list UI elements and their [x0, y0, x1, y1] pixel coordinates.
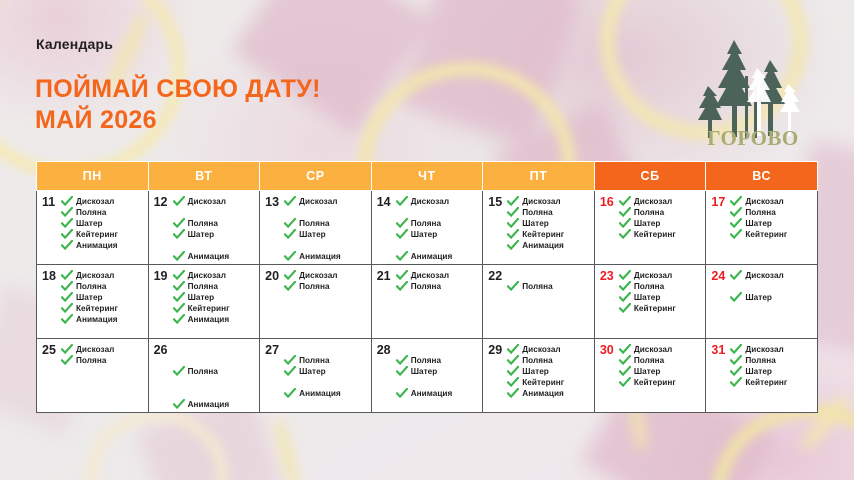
check-icon	[507, 196, 519, 207]
check-icon	[61, 207, 73, 218]
check-icon	[507, 388, 519, 399]
check-icon	[61, 229, 73, 240]
day-cell-inner: 12Дискозал ПолянаШатер Анимация	[149, 191, 260, 264]
gorovo-logo: ГОРОВО	[688, 32, 818, 152]
day-number: 18	[42, 270, 59, 282]
check-icon	[619, 292, 631, 303]
service-item: Дискозал	[173, 196, 256, 207]
calendar-table: ПНВТСРЧТПТСБВС 11ДискозалПолянаШатерКейт…	[36, 161, 818, 413]
check-icon	[284, 355, 296, 366]
check-icon	[396, 218, 408, 229]
service-item: Шатер	[507, 366, 590, 377]
check-icon	[61, 344, 73, 355]
service-label: Дискозал	[73, 270, 114, 281]
check-icon	[619, 366, 631, 377]
calendar-day-cell[interactable]: 13Дискозал ПолянаШатер Анимация	[260, 191, 372, 265]
day-service-list: Поляна Анимация	[171, 344, 256, 410]
check-icon	[507, 240, 519, 251]
check-icon	[173, 251, 185, 262]
check-icon	[619, 229, 631, 240]
service-label: Поляна	[296, 281, 329, 292]
day-service-list: ДискозалПолянаШатерКейтерингАнимация	[59, 196, 144, 251]
check-icon	[61, 314, 73, 325]
check-icon	[619, 207, 631, 218]
day-cell-inner: 28 ПолянаШатер Анимация	[372, 339, 483, 412]
service-label: Шатер	[185, 292, 215, 303]
day-service-list: ДискозалПолянаШатерКейтерингАнимация	[505, 344, 590, 399]
calendar-day-cell[interactable]: 12Дискозал ПолянаШатер Анимация	[148, 191, 260, 265]
check-icon	[61, 270, 73, 281]
day-number: 26	[154, 344, 171, 356]
service-label: Анимация	[519, 240, 564, 251]
service-item: Поляна	[61, 355, 144, 366]
service-label: Дискозал	[408, 270, 449, 281]
day-number: 23	[600, 270, 617, 282]
service-label: Кейтеринг	[631, 229, 676, 240]
check-icon	[173, 399, 185, 410]
service-label: Поляна	[185, 218, 218, 229]
service-label: Поляна	[185, 281, 218, 292]
service-item: Поляна	[730, 355, 813, 366]
calendar-day-cell[interactable]: 21ДискозалПоляна	[371, 265, 483, 339]
calendar-day-cell[interactable]: 19ДискозалПолянаШатерКейтерингАнимация	[148, 265, 260, 339]
service-item: Анимация	[173, 251, 256, 262]
service-label: Анимация	[185, 251, 230, 262]
check-icon	[396, 229, 408, 240]
service-item: Анимация	[396, 388, 479, 399]
weekday-header-сб: СБ	[594, 162, 706, 191]
service-label: Дискозал	[519, 196, 560, 207]
service-item: Анимация	[173, 399, 256, 410]
day-service-list: ПолянаШатер Анимация	[282, 344, 367, 399]
check-icon	[507, 218, 519, 229]
day-number: 28	[377, 344, 394, 356]
calendar-day-cell[interactable]: 26 Поляна Анимация	[148, 339, 260, 413]
service-item: Поляна	[730, 207, 813, 218]
check-icon	[507, 344, 519, 355]
check-icon	[619, 270, 631, 281]
check-icon	[730, 218, 742, 229]
service-item: Дискозал	[730, 196, 813, 207]
calendar-day-cell[interactable]: 11ДискозалПолянаШатерКейтерингАнимация	[37, 191, 149, 265]
service-item: Дискозал	[619, 344, 702, 355]
service-label: Анимация	[408, 388, 453, 399]
service-item: Дискозал	[396, 270, 479, 281]
service-item: Кейтеринг	[619, 377, 702, 388]
service-item: Шатер	[619, 366, 702, 377]
day-service-list: ДискозалПоляна	[394, 270, 479, 292]
check-icon	[284, 218, 296, 229]
day-cell-inner: 25ДискозалПоляна	[37, 339, 148, 412]
calendar-day-cell[interactable]: 31ДискозалПолянаШатерКейтеринг	[706, 339, 818, 413]
day-cell-inner: 26 Поляна Анимация	[149, 339, 260, 412]
day-cell-inner: 16ДискозалПолянаШатерКейтеринг	[595, 191, 706, 264]
check-icon	[730, 292, 742, 303]
service-item: Поляна	[284, 281, 367, 292]
service-label: Дискозал	[73, 344, 114, 355]
calendar-poster: Календарь ПОЙМАЙ СВОЮ ДАТУ! МАЙ 2026 ГОР…	[0, 0, 854, 480]
service-label: Поляна	[631, 281, 664, 292]
service-item: Анимация	[284, 251, 367, 262]
service-item: Поляна	[507, 207, 590, 218]
day-number: 27	[265, 344, 282, 356]
calendar-week-row: 25ДискозалПоляна26 Поляна Анимация27 Пол…	[37, 339, 818, 413]
service-item: Дискозал	[396, 196, 479, 207]
day-cell-inner: 19ДискозалПолянаШатерКейтерингАнимация	[149, 265, 260, 338]
service-item: Шатер	[619, 292, 702, 303]
service-item: Шатер	[396, 366, 479, 377]
day-service-list: ДискозалПолянаШатерКейтеринг	[617, 196, 702, 240]
service-label: Анимация	[185, 314, 230, 325]
service-item: Анимация	[173, 314, 256, 325]
check-icon	[284, 388, 296, 399]
service-item: Шатер	[173, 229, 256, 240]
service-label: Шатер	[742, 366, 772, 377]
day-cell-inner: 21ДискозалПоляна	[372, 265, 483, 338]
service-label: Шатер	[631, 292, 661, 303]
service-item: Поляна	[507, 355, 590, 366]
check-icon	[619, 344, 631, 355]
day-number: 22	[488, 270, 505, 282]
check-icon	[173, 218, 185, 229]
check-icon	[730, 270, 742, 281]
day-cell-inner: 14Дискозал ПолянаШатер Анимация	[372, 191, 483, 264]
day-number: 17	[711, 196, 728, 208]
check-icon	[396, 251, 408, 262]
service-label: Кейтеринг	[631, 377, 676, 388]
service-item: Дискозал	[61, 196, 144, 207]
check-icon	[619, 196, 631, 207]
check-icon	[730, 344, 742, 355]
check-icon	[730, 377, 742, 388]
calendar-day-cell[interactable]: 27 ПолянаШатер Анимация	[260, 339, 372, 413]
day-service-list: ПолянаШатер Анимация	[394, 344, 479, 399]
service-item: Поляна	[619, 207, 702, 218]
service-label: Кейтеринг	[73, 229, 118, 240]
check-icon	[173, 303, 185, 314]
service-item: Анимация	[284, 388, 367, 399]
check-icon	[396, 355, 408, 366]
calendar-day-cell[interactable]: 22 Поляна	[483, 265, 595, 339]
service-item: Дискозал	[507, 344, 590, 355]
day-cell-inner: 20ДискозалПоляна	[260, 265, 371, 338]
service-label: Кейтеринг	[73, 303, 118, 314]
service-item: Шатер	[507, 218, 590, 229]
day-cell-inner: 31ДискозалПолянаШатерКейтеринг	[706, 339, 817, 412]
service-item: Шатер	[730, 366, 813, 377]
check-icon	[284, 366, 296, 377]
service-item: Анимация	[507, 240, 590, 251]
day-cell-inner: 27 ПолянаШатер Анимация	[260, 339, 371, 412]
service-label: Анимация	[519, 388, 564, 399]
service-label: Шатер	[185, 229, 215, 240]
check-icon	[173, 196, 185, 207]
day-cell-inner: 30ДискозалПолянаШатерКейтеринг	[595, 339, 706, 412]
service-item: Кейтеринг	[61, 303, 144, 314]
check-icon	[61, 303, 73, 314]
service-label: Поляна	[296, 355, 329, 366]
service-label: Поляна	[73, 281, 106, 292]
service-label: Дискозал	[631, 196, 672, 207]
service-label: Дискозал	[742, 344, 783, 355]
service-item: Дискозал	[284, 196, 367, 207]
service-item: Дискозал	[284, 270, 367, 281]
service-item: Кейтеринг	[730, 229, 813, 240]
service-item: Шатер	[396, 229, 479, 240]
calendar-day-cell[interactable]: 23ДискозалПолянаШатерКейтеринг	[594, 265, 706, 339]
service-label: Шатер	[742, 292, 772, 303]
day-service-list: ДискозалПолянаШатерКейтеринг	[617, 270, 702, 314]
check-icon	[61, 218, 73, 229]
service-label: Шатер	[631, 218, 661, 229]
service-label: Дискозал	[185, 196, 226, 207]
service-item: Шатер	[173, 292, 256, 303]
calendar-day-cell[interactable]: 28 ПолянаШатер Анимация	[371, 339, 483, 413]
service-label: Кейтеринг	[631, 303, 676, 314]
service-label: Кейтеринг	[519, 377, 564, 388]
service-item: Шатер	[730, 292, 813, 303]
service-label: Анимация	[185, 399, 230, 410]
service-label: Поляна	[742, 355, 775, 366]
service-label: Анимация	[408, 251, 453, 262]
service-item: Поляна	[619, 355, 702, 366]
service-label: Шатер	[296, 366, 326, 377]
service-label: Шатер	[73, 292, 103, 303]
service-item: Дискозал	[730, 344, 813, 355]
service-label: Поляна	[73, 355, 106, 366]
service-item: Шатер	[284, 366, 367, 377]
day-cell-inner: 17ДискозалПолянаШатерКейтеринг	[706, 191, 817, 264]
check-icon	[173, 292, 185, 303]
calendar-day-cell[interactable]: 29ДискозалПолянаШатерКейтерингАнимация	[483, 339, 595, 413]
service-item: Поляна	[173, 218, 256, 229]
service-item: Кейтеринг	[619, 229, 702, 240]
service-label: Анимация	[73, 314, 118, 325]
day-service-list: Поляна	[505, 270, 590, 292]
day-number: 13	[265, 196, 282, 208]
service-label: Поляна	[519, 207, 552, 218]
service-label: Поляна	[631, 355, 664, 366]
check-icon	[61, 355, 73, 366]
calendar-day-cell[interactable]: 15ДискозалПолянаШатерКейтерингАнимация	[483, 191, 595, 265]
service-item: Шатер	[284, 229, 367, 240]
service-label: Поляна	[73, 207, 106, 218]
calendar-body: 11ДискозалПолянаШатерКейтерингАнимация12…	[37, 191, 818, 413]
service-label: Дискозал	[408, 196, 449, 207]
day-number: 16	[600, 196, 617, 208]
check-icon	[396, 366, 408, 377]
check-icon	[730, 366, 742, 377]
service-label: Дискозал	[742, 196, 783, 207]
service-label: Дискозал	[296, 270, 337, 281]
service-item: Дискозал	[619, 270, 702, 281]
day-number: 31	[711, 344, 728, 356]
service-item: Кейтеринг	[61, 229, 144, 240]
service-label: Поляна	[631, 207, 664, 218]
calendar-day-cell[interactable]: 20ДискозалПоляна	[260, 265, 372, 339]
service-item: Поляна	[619, 281, 702, 292]
check-icon	[61, 196, 73, 207]
calendar-day-cell[interactable]: 18ДискозалПолянаШатерКейтерингАнимация	[37, 265, 149, 339]
service-label: Поляна	[519, 281, 552, 292]
weekday-header-вс: ВС	[706, 162, 818, 191]
service-label: Кейтеринг	[742, 229, 787, 240]
service-item: Поляна	[396, 281, 479, 292]
day-service-list: ДискозалПолянаШатерКейтеринг	[728, 344, 813, 388]
service-label: Дискозал	[296, 196, 337, 207]
service-item: Дискозал	[61, 344, 144, 355]
day-service-list: Дискозал ПолянаШатер Анимация	[171, 196, 256, 262]
service-item: Дискозал	[61, 270, 144, 281]
day-service-list: Дискозал ПолянаШатер Анимация	[282, 196, 367, 262]
check-icon	[284, 270, 296, 281]
day-number: 20	[265, 270, 282, 282]
check-icon	[173, 270, 185, 281]
kicker-label: Календарь	[36, 36, 113, 52]
calendar-day-cell[interactable]: 16ДискозалПолянаШатерКейтеринг	[594, 191, 706, 265]
service-item: Шатер	[61, 292, 144, 303]
service-item: Анимация	[507, 388, 590, 399]
service-label: Шатер	[408, 229, 438, 240]
service-item: Анимация	[61, 240, 144, 251]
service-label: Поляна	[742, 207, 775, 218]
service-label: Дискозал	[73, 196, 114, 207]
check-icon	[61, 240, 73, 251]
check-icon	[284, 229, 296, 240]
calendar-week-row: 11ДискозалПолянаШатерКейтерингАнимация12…	[37, 191, 818, 265]
service-item: Шатер	[61, 218, 144, 229]
check-icon	[507, 377, 519, 388]
day-service-list: ДискозалПолянаШатерКейтерингАнимация	[171, 270, 256, 325]
calendar-week-row: 18ДискозалПолянаШатерКейтерингАнимация19…	[37, 265, 818, 339]
service-label: Поляна	[408, 281, 441, 292]
day-service-list: ДискозалПоляна	[282, 270, 367, 292]
check-icon	[730, 229, 742, 240]
check-icon	[730, 207, 742, 218]
pine-tree-icon	[698, 40, 785, 138]
service-label: Шатер	[742, 218, 772, 229]
check-icon	[396, 388, 408, 399]
day-service-list: ДискозалПоляна	[59, 344, 144, 366]
check-icon	[507, 207, 519, 218]
service-label: Анимация	[73, 240, 118, 251]
check-icon	[507, 366, 519, 377]
day-service-list: Дискозал Шатер	[728, 270, 813, 303]
weekday-header-ср: СР	[260, 162, 372, 191]
check-icon	[619, 303, 631, 314]
service-label: Дискозал	[742, 270, 783, 281]
day-number: 19	[154, 270, 171, 282]
service-item: Шатер	[619, 218, 702, 229]
service-label: Шатер	[73, 218, 103, 229]
check-icon	[173, 366, 185, 377]
day-number: 24	[711, 270, 728, 282]
page-title: ПОЙМАЙ СВОЮ ДАТУ! МАЙ 2026	[35, 74, 321, 136]
service-item: Анимация	[61, 314, 144, 325]
service-label: Дискозал	[519, 344, 560, 355]
service-item: Кейтеринг	[730, 377, 813, 388]
day-cell-inner: 15ДискозалПолянаШатерКейтерингАнимация	[483, 191, 594, 264]
service-label: Поляна	[296, 218, 329, 229]
service-item: Шатер	[730, 218, 813, 229]
day-cell-inner: 29ДискозалПолянаШатерКейтерингАнимация	[483, 339, 594, 412]
check-icon	[284, 251, 296, 262]
service-label: Дискозал	[185, 270, 226, 281]
day-cell-inner: 23ДискозалПолянаШатерКейтеринг	[595, 265, 706, 338]
service-label: Шатер	[519, 218, 549, 229]
calendar-day-cell[interactable]: 14Дискозал ПолянаШатер Анимация	[371, 191, 483, 265]
check-icon	[507, 281, 519, 292]
check-icon	[619, 355, 631, 366]
service-item: Кейтеринг	[619, 303, 702, 314]
service-label: Дискозал	[631, 344, 672, 355]
service-label: Кейтеринг	[519, 229, 564, 240]
check-icon	[396, 281, 408, 292]
check-icon	[507, 355, 519, 366]
day-cell-inner: 24Дискозал Шатер	[706, 265, 817, 338]
service-item: Поляна	[284, 218, 367, 229]
service-item: Поляна	[507, 281, 590, 292]
day-service-list: Дискозал ПолянаШатер Анимация	[394, 196, 479, 262]
day-number: 21	[377, 270, 394, 282]
check-icon	[396, 270, 408, 281]
service-item: Дискозал	[730, 270, 813, 281]
day-service-list: ДискозалПолянаШатерКейтеринг	[617, 344, 702, 388]
service-item: Дискозал	[507, 196, 590, 207]
day-cell-inner: 13Дискозал ПолянаШатер Анимация	[260, 191, 371, 264]
check-icon	[173, 314, 185, 325]
service-label: Поляна	[185, 366, 218, 377]
weekday-header-чт: ЧТ	[371, 162, 483, 191]
day-cell-inner: 11ДискозалПолянаШатерКейтерингАнимация	[37, 191, 148, 264]
service-item: Поляна	[284, 355, 367, 366]
check-icon	[284, 196, 296, 207]
service-label: Кейтеринг	[185, 303, 230, 314]
day-number: 25	[42, 344, 59, 356]
service-item: Кейтеринг	[507, 377, 590, 388]
check-icon	[619, 281, 631, 292]
service-label: Поляна	[519, 355, 552, 366]
check-icon	[730, 196, 742, 207]
calendar-day-cell[interactable]: 17ДискозалПолянаШатерКейтеринг	[706, 191, 818, 265]
service-label: Шатер	[519, 366, 549, 377]
weekday-header-пт: ПТ	[483, 162, 595, 191]
calendar-day-cell[interactable]: 24Дискозал Шатер	[706, 265, 818, 339]
service-item: Поляна	[173, 281, 256, 292]
check-icon	[173, 229, 185, 240]
calendar-day-cell[interactable]: 30ДискозалПолянаШатерКейтеринг	[594, 339, 706, 413]
service-item: Поляна	[396, 218, 479, 229]
service-item: Поляна	[61, 281, 144, 292]
day-cell-inner: 18ДискозалПолянаШатерКейтерингАнимация	[37, 265, 148, 338]
day-number: 11	[42, 196, 59, 208]
check-icon	[619, 377, 631, 388]
check-icon	[730, 355, 742, 366]
service-item: Анимация	[396, 251, 479, 262]
service-item: Дискозал	[173, 270, 256, 281]
service-label: Шатер	[408, 366, 438, 377]
day-cell-inner: 22 Поляна	[483, 265, 594, 338]
weekday-header-пн: ПН	[37, 162, 149, 191]
check-icon	[173, 281, 185, 292]
check-icon	[61, 281, 73, 292]
calendar-day-cell[interactable]: 25ДискозалПоляна	[37, 339, 149, 413]
day-service-list: ДискозалПолянаШатерКейтеринг	[728, 196, 813, 240]
check-icon	[507, 229, 519, 240]
weekday-header-вт: ВТ	[148, 162, 260, 191]
service-item: Кейтеринг	[507, 229, 590, 240]
day-number: 29	[488, 344, 505, 356]
